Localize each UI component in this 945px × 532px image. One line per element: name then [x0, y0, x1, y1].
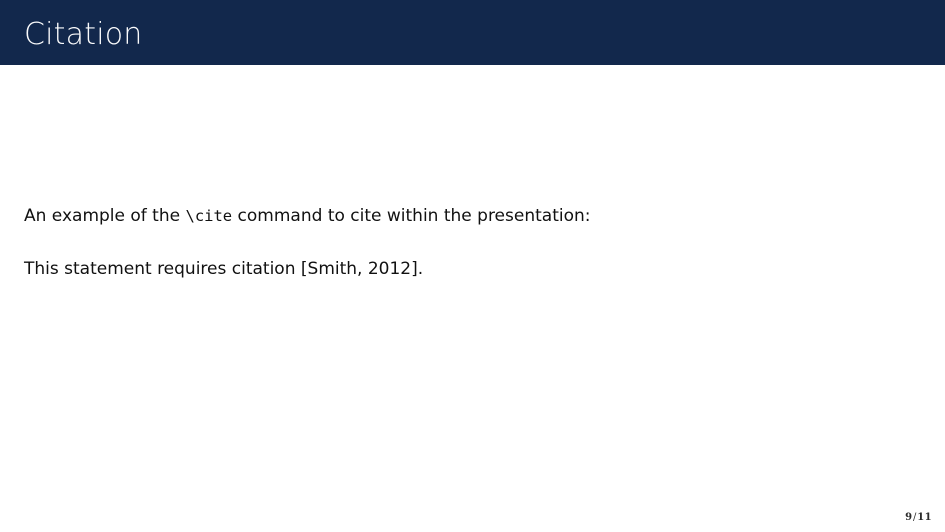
- page-number-current: 9: [905, 512, 912, 523]
- paragraph-citation-statement: This statement requires citation [Smith,…: [24, 258, 904, 281]
- paragraph-cite-example: An example of the \cite command to cite …: [24, 205, 904, 228]
- paragraph-cite-example-prefix: An example of the: [24, 206, 185, 226]
- slide-header-bar: Citation: [0, 0, 945, 65]
- paragraph-cite-example-suffix: command to cite within the presentation:: [232, 206, 590, 226]
- slide-footer: 9/11: [0, 498, 945, 532]
- cite-command-code: \cite: [185, 207, 232, 225]
- slide-title: Citation: [24, 17, 143, 53]
- presentation-slide: Citation An example of the \cite command…: [0, 0, 945, 532]
- page-number: 9/11: [905, 512, 932, 523]
- page-number-total: 11: [917, 512, 932, 523]
- slide-body: An example of the \cite command to cite …: [24, 205, 904, 281]
